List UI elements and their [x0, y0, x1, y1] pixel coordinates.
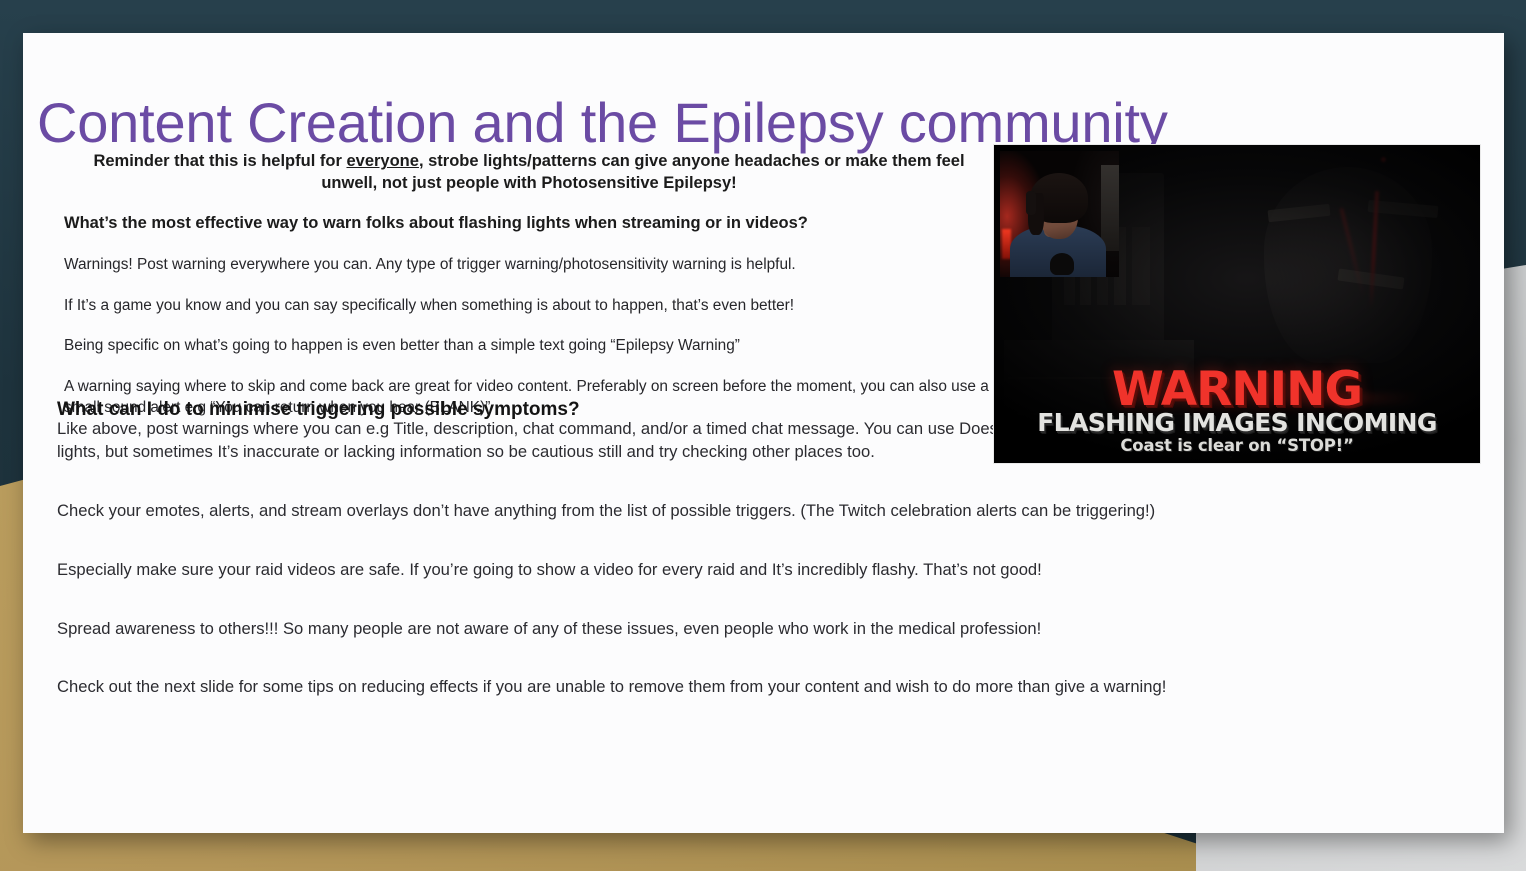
question-1-heading: What’s the most effective way to warn fo…	[64, 213, 994, 235]
upper-text-column: Reminder that this is helpful for everyo…	[64, 151, 994, 419]
microphone-icon	[1050, 253, 1074, 275]
warning-note: Coast is clear on “STOP!”	[994, 437, 1480, 455]
slide-card: Content Creation and the Epilepsy commun…	[23, 33, 1504, 833]
warning-headline: WARNING	[994, 367, 1480, 412]
intro-reminder-prefix: Reminder that this is helpful for	[93, 152, 346, 170]
headphones-icon	[1026, 191, 1036, 215]
warning-subline: FLASHING IMAGES INCOMING	[994, 410, 1480, 436]
answer-2-item: Spread awareness to others!!! So many pe…	[57, 618, 1457, 641]
answer-1-item: Warnings! Post warning everywhere you ca…	[64, 255, 994, 276]
answer-2-item: Check your emotes, alerts, and stream ov…	[57, 500, 1457, 523]
webcam-overlay	[1000, 151, 1119, 277]
intro-reminder-emphasis: everyone	[346, 152, 418, 170]
page-title: Content Creation and the Epilepsy commun…	[37, 93, 1168, 152]
answer-2-item: Check out the next slide for some tips o…	[57, 676, 1457, 699]
webcam-monitor-decor	[1101, 165, 1119, 251]
answer-1-item: If It’s a game you know and you can say …	[64, 296, 994, 317]
intro-reminder: Reminder that this is helpful for everyo…	[64, 151, 994, 195]
warning-text-block: WARNING FLASHING IMAGES INCOMING Coast i…	[994, 367, 1480, 456]
answer-1-item: Being specific on what’s going to happen…	[64, 336, 994, 357]
answer-2-item: Especially make sure your raid videos ar…	[57, 559, 1457, 582]
warning-video-thumbnail: WARNING FLASHING IMAGES INCOMING Coast i…	[993, 144, 1481, 464]
